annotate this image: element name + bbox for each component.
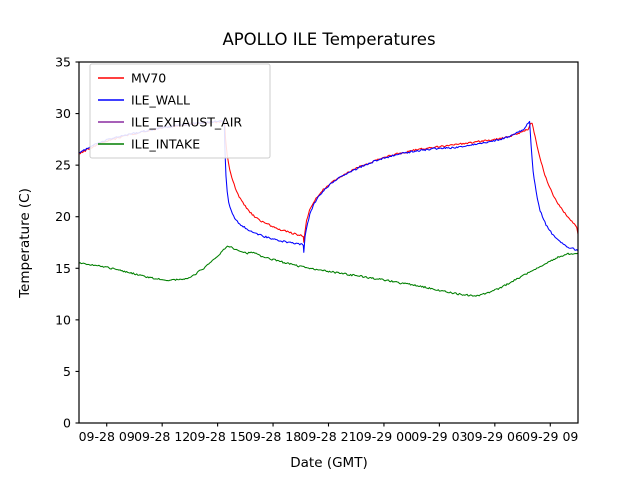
x-tick-label: 09-29 03	[411, 429, 467, 444]
legend-label-ile_wall: ILE_WALL	[131, 93, 190, 108]
x-tick-label: 09-28 09	[79, 429, 135, 444]
x-tick-label: 09-28 15	[190, 429, 246, 444]
x-tick-label: 09-29 06	[467, 429, 523, 444]
y-axis-title: Temperature (C)	[17, 188, 33, 299]
x-tick-label: 09-29 09	[522, 429, 578, 444]
x-axis-title: Date (GMT)	[290, 455, 367, 471]
y-tick-label: 10	[55, 312, 71, 327]
y-tick-label: 5	[63, 364, 71, 379]
y-tick-label: 15	[55, 261, 71, 276]
legend-label-ile_exhaust_air: ILE_EXHAUST_AIR	[131, 115, 242, 130]
x-tick-label: 09-28 21	[300, 429, 356, 444]
y-tick-label: 25	[55, 158, 71, 173]
legend-label-ile_intake: ILE_INTAKE	[131, 137, 200, 152]
y-tick-label: 35	[55, 55, 71, 70]
page-title: APOLLO ILE Temperatures	[222, 30, 435, 49]
y-tick-label: 30	[55, 106, 71, 121]
x-tick-label: 09-28 12	[134, 429, 190, 444]
y-tick-label: 0	[63, 416, 71, 431]
y-tick-label: 20	[55, 209, 71, 224]
chart-legend[interactable]: MV70ILE_WALLILE_EXHAUST_AIRILE_INTAKE	[90, 64, 270, 158]
x-tick-label: 09-29 00	[356, 429, 412, 444]
chart-page: APOLLO ILE Temperatures 05101520253035 0…	[0, 0, 640, 480]
matplotlib-figure: APOLLO ILE Temperatures 05101520253035 0…	[0, 0, 640, 480]
legend-label-mv70: MV70	[131, 71, 166, 86]
x-tick-label: 09-28 18	[245, 429, 301, 444]
